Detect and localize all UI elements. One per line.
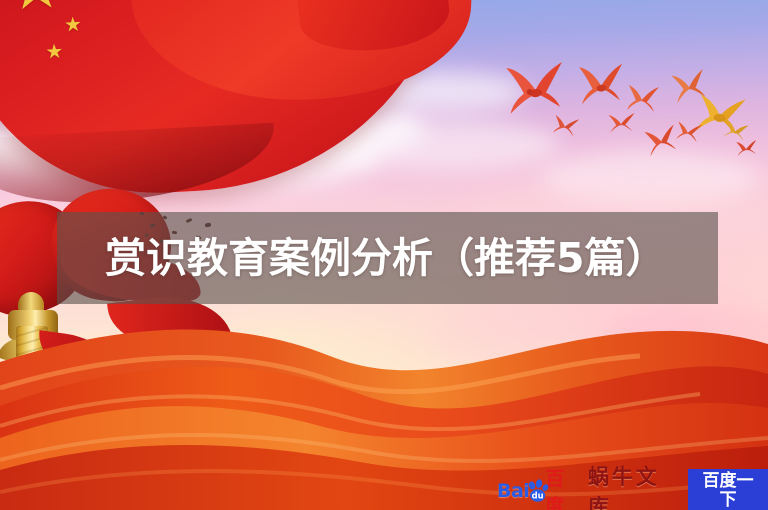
small-star-icon: ★ [63,15,82,36]
small-star-icon: ★ [64,0,83,2]
cloud [330,120,560,170]
baidu-paw-icon: du [526,479,550,503]
site-brand-label: 蜗牛文库 [588,461,681,510]
dove-icon [502,56,571,116]
baidu-search-button[interactable]: 百度一下 [688,469,768,510]
title-banner: 赏识教育案例分析（推荐5篇） [57,212,718,304]
watermark-bar: Bai du 百度 蜗牛文库 百度一下 [497,476,768,506]
dove-icon [625,83,661,113]
small-star-icon: ★ [45,42,64,63]
svg-text:du: du [532,491,544,501]
poster-canvas: ★ ★ ★ ★ ★ [0,0,768,510]
dove-icon [735,139,759,157]
dove-icon [607,112,636,134]
page-title: 赏识教育案例分析（推荐5篇） [105,238,667,279]
large-star-icon: ★ [6,0,65,20]
baidu-logo[interactable]: Bai du 百度 [497,478,581,504]
dove-icon [551,114,580,138]
baidu-latin-text: Bai [497,480,529,502]
dove-icon [576,60,628,107]
baidu-chinese-text: 百度 [545,464,580,510]
